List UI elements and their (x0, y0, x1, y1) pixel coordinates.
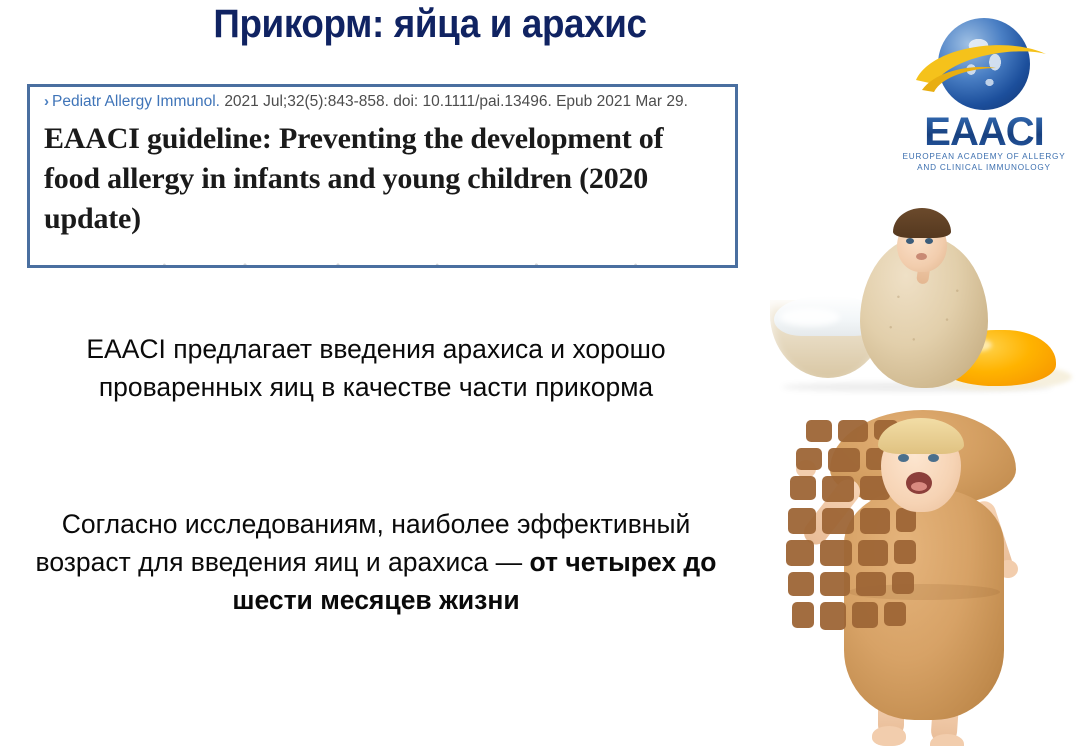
peanut-baby-right-foot (930, 734, 964, 746)
peanut-shell-cell (856, 572, 886, 596)
peanut-shell-cell (796, 448, 822, 470)
peanut-shell-cell (858, 540, 888, 566)
peanut-shell-cell (806, 420, 832, 442)
citation-article-title[interactable]: EAACI guideline: Preventing the developm… (44, 119, 724, 239)
peanut-shell-cell (838, 420, 868, 442)
presentation-slide: Прикорм: яйца и арахис ›Pediatr Allergy … (0, 0, 1079, 746)
peanut-shell-cell (786, 540, 814, 566)
citation-details: 2021 Jul;32(5):843-858. doi: 10.1111/pai… (224, 93, 688, 110)
peanut-shell-cell (792, 602, 814, 628)
peanut-baby-mouth (906, 472, 932, 494)
peanut-shell-cell (894, 540, 916, 564)
chevron-right-icon: › (44, 93, 49, 110)
peanut-shell-cell (820, 572, 850, 596)
slide-title: Прикорм: яйца и арахис (34, 2, 825, 47)
eaaci-logo: EAACI EUROPEAN ACADEMY OF ALLERGY AND CL… (900, 18, 1068, 193)
photo-baby-in-peanut-costume (768, 404, 1079, 746)
eaaci-tagline: EUROPEAN ACADEMY OF ALLERGY AND CLINICAL… (900, 152, 1068, 173)
eaaci-tagline-line-2: AND CLINICAL IMMUNOLOGY (900, 163, 1068, 174)
peanut-shell-cell (860, 508, 890, 534)
globe-icon (938, 18, 1030, 110)
eaaci-tagline-line-1: EUROPEAN ACADEMY OF ALLERGY (900, 152, 1068, 163)
citation-source-line: ›Pediatr Allergy Immunol. 2021 Jul;32(5)… (44, 92, 688, 112)
baby-head (891, 208, 953, 274)
peanut-shell-cell (790, 476, 816, 500)
peanut-shell-cell (820, 602, 846, 630)
citation-screenshot-box: ›Pediatr Allergy Immunol. 2021 Jul;32(5)… (27, 84, 738, 268)
peanut-shell-cell (820, 540, 852, 566)
peanut-shell-cell (892, 572, 914, 594)
peanut-shell-cell (822, 508, 854, 534)
peanut-shell-cell (822, 476, 854, 502)
peanut-shell-cell (828, 448, 860, 472)
citation-clipped-author-line (90, 262, 710, 268)
peanut-shell-cell (788, 508, 816, 534)
citation-journal-name[interactable]: Pediatr Allergy Immunol. (52, 93, 220, 110)
body-paragraph-one: EAACI предлагает введения арахиса и хоро… (18, 330, 734, 406)
peanut-shell-cell (788, 572, 814, 596)
peanut-shell-cell (884, 602, 906, 626)
photo-baby-in-egg (752, 198, 1079, 396)
peanut-baby-right-eye (928, 454, 939, 462)
eaaci-wordmark: EAACI (900, 110, 1068, 155)
peanut-shell-cell (852, 602, 878, 628)
body-paragraph-two: Согласно исследованиям, наиболее эффекти… (18, 505, 734, 619)
peanut-baby-left-eye (898, 454, 909, 462)
